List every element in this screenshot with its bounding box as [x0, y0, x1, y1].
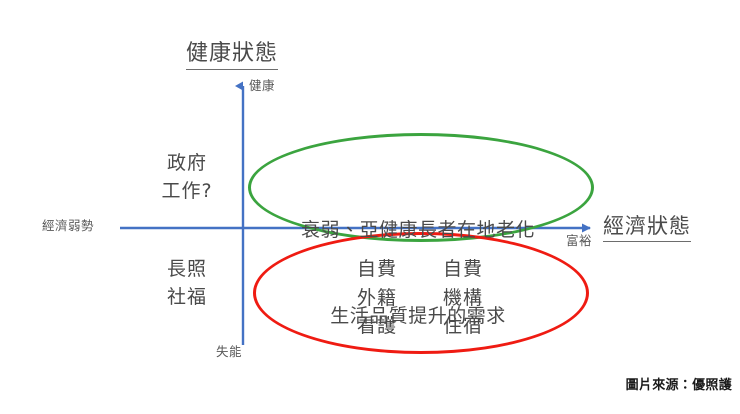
red-ellipse-col1-line-2: 外籍 — [357, 284, 397, 313]
red-ellipse-col2-line-2: 機構 — [443, 284, 483, 313]
quadrant-label-upper-left: 政府 工作? — [142, 150, 232, 205]
red-ellipse-text: 自費 外籍 看護 自費 機構 住宿 — [300, 255, 540, 341]
x-axis-tick-left: 經濟弱勢 — [42, 218, 94, 234]
red-ellipse-col2-line-3: 住宿 — [443, 312, 483, 341]
red-ellipse-col1-line-1: 自費 — [357, 255, 397, 284]
x-axis-title: 經濟狀態 — [603, 213, 691, 242]
diagram-canvas: 健康狀態 經濟狀態 健康 失能 經濟弱勢 富裕 政府 工作? 長照 社福 衰弱、… — [0, 0, 740, 414]
red-ellipse-col2-line-1: 自費 — [443, 255, 483, 284]
red-ellipse-col1-line-3: 看護 — [357, 312, 397, 341]
y-axis-tick-bottom: 失能 — [216, 344, 242, 360]
green-ellipse-line-1: 衰弱、亞健康長者在地老化 — [262, 216, 574, 245]
page-title: 健康狀態 — [186, 40, 278, 70]
y-axis-tick-top: 健康 — [249, 78, 275, 94]
red-ellipse-column-1: 自費 外籍 看護 — [357, 255, 397, 341]
quadrant-label-lower-left: 長照 社福 — [142, 256, 232, 311]
red-ellipse-column-2: 自費 機構 住宿 — [443, 255, 483, 341]
source-credit: 圖片來源：優照護 — [626, 374, 732, 393]
